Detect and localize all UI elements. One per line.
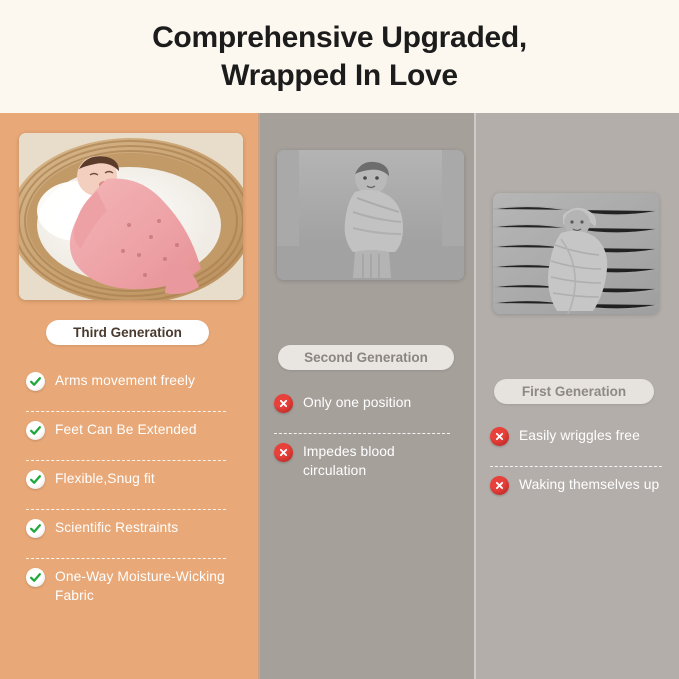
photo-first-generation: [493, 193, 659, 314]
page-title-line-1: Comprehensive Upgraded,: [152, 19, 527, 56]
pill-third-generation: Third Generation: [46, 320, 209, 345]
list-item-label: Only one position: [303, 393, 411, 413]
comparison-infographic: Comprehensive Upgraded, Wrapped In Love: [0, 0, 679, 679]
cross-icon: [274, 394, 293, 413]
cross-icon: [274, 443, 293, 462]
list-divider: [26, 558, 226, 559]
page-title-line-2: Wrapped In Love: [221, 57, 458, 94]
pill-first-generation: First Generation: [494, 379, 654, 404]
feature-list-first-generation: Easily wriggles free Waking themselves u…: [490, 426, 670, 509]
list-divider: [274, 433, 450, 434]
list-divider: [26, 509, 226, 510]
list-divider: [490, 466, 662, 467]
column-third-generation: Third Generation Arms movement freely Fe…: [0, 113, 258, 679]
list-item-label: Feet Can Be Extended: [55, 420, 197, 440]
list-item: Feet Can Be Extended: [26, 420, 236, 454]
list-item: Flexible,Snug fit: [26, 469, 236, 503]
list-divider: [26, 411, 226, 412]
list-item: Only one position: [274, 393, 459, 427]
check-icon: [26, 519, 45, 538]
feature-list-second-generation: Only one position Impedes blood circulat…: [274, 393, 459, 480]
page-header: Comprehensive Upgraded, Wrapped In Love: [0, 0, 679, 113]
cross-icon: [490, 476, 509, 495]
list-item-label: Easily wriggles free: [519, 426, 640, 446]
list-item: One-Way Moisture-Wicking Fabric: [26, 567, 236, 605]
photo-third-generation: [19, 133, 243, 300]
column-first-generation: First Generation Easily wriggles free Wa…: [474, 113, 679, 679]
check-icon: [26, 372, 45, 391]
photo-second-generation: [277, 150, 464, 280]
list-item-label: Impedes blood circulation: [303, 442, 459, 480]
list-divider: [26, 460, 226, 461]
check-icon: [26, 568, 45, 587]
list-item: Impedes blood circulation: [274, 442, 459, 480]
column-second-generation: Second Generation Only one position Impe…: [258, 113, 474, 679]
list-item-label: One-Way Moisture-Wicking Fabric: [55, 567, 236, 605]
list-item: Easily wriggles free: [490, 426, 670, 460]
list-item: Waking themselves up: [490, 475, 670, 509]
list-item: Arms movement freely: [26, 371, 236, 405]
list-item-label: Scientific Restraints: [55, 518, 178, 538]
list-item-label: Arms movement freely: [55, 371, 195, 391]
list-item: Scientific Restraints: [26, 518, 236, 552]
feature-list-third-generation: Arms movement freely Feet Can Be Extende…: [26, 371, 236, 605]
list-item-label: Waking themselves up: [519, 475, 659, 495]
check-icon: [26, 421, 45, 440]
pill-second-generation: Second Generation: [278, 345, 454, 370]
check-icon: [26, 470, 45, 489]
list-item-label: Flexible,Snug fit: [55, 469, 155, 489]
cross-icon: [490, 427, 509, 446]
